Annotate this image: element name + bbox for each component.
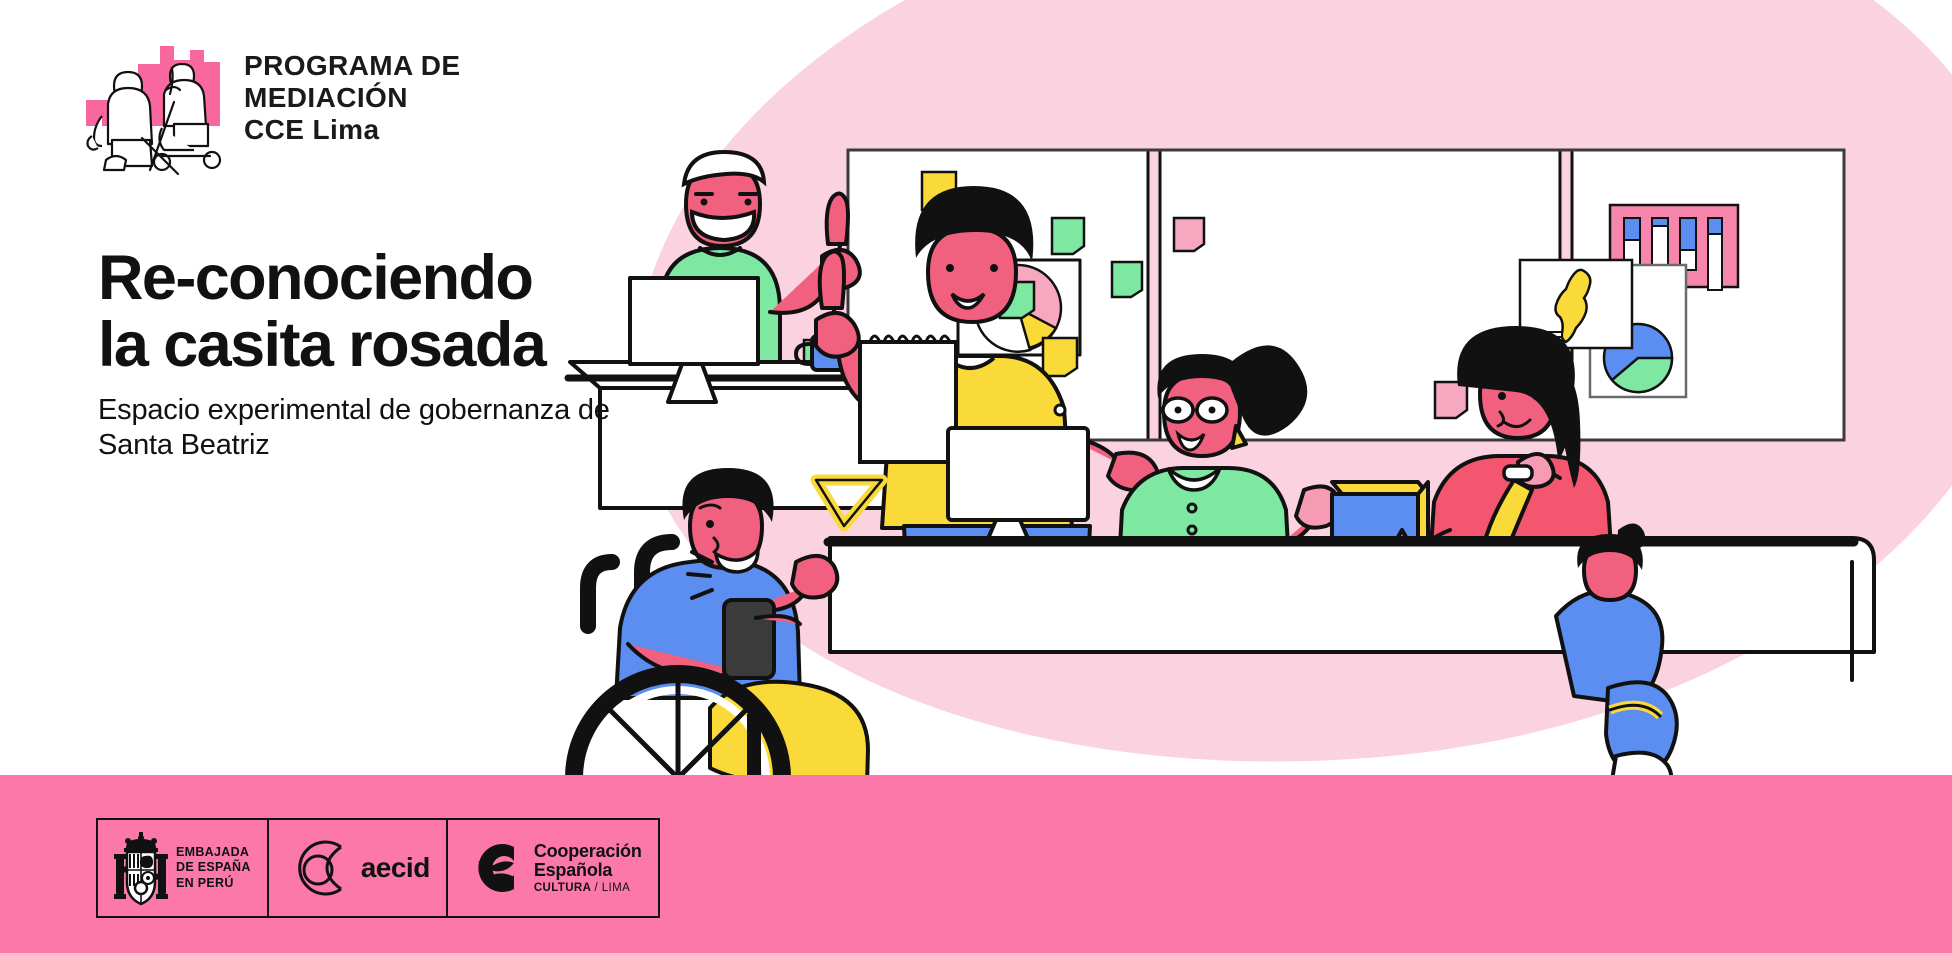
brand-wordmark: PROGRAMA DE MEDIACIÓN CCE Lima [244, 28, 460, 146]
programa-de-mediacion-logo-icon [78, 28, 228, 178]
headline-block: Re-conociendo la casita rosada Espacio e… [98, 245, 658, 464]
brand-line-3: CCE Lima [244, 114, 460, 146]
embajada-line-1: EMBAJADA [176, 845, 251, 860]
footer-logo-strip: EMBAJADA DE ESPAÑA EN PERÚ aecid Coopera… [96, 818, 660, 918]
page-title: Re-conociendo la casita rosada [98, 245, 658, 379]
cooperacion-label: Cooperación Española CULTURA / LIMA [534, 842, 642, 895]
cooperacion-sub-thin: / LIMA [595, 882, 631, 894]
spain-coat-of-arms-icon [114, 830, 168, 906]
cooperacion-espanola-c-mark-icon [464, 835, 524, 901]
logo-aecid: aecid [267, 820, 446, 916]
aecid-label: aecid [361, 852, 430, 884]
embajada-label: EMBAJADA DE ESPAÑA EN PERÚ [176, 845, 251, 891]
aecid-c-mark-icon [285, 833, 351, 903]
cooperacion-sub-bold: CULTURA [534, 882, 591, 894]
brand-line-1: PROGRAMA DE [244, 50, 460, 82]
desk-main [828, 538, 1874, 708]
logo-embajada-de-espana: EMBAJADA DE ESPAÑA EN PERÚ [98, 820, 267, 916]
cooperacion-line-1: Cooperación [534, 842, 642, 861]
page-subtitle: Espacio experimental de gobernanza de Sa… [98, 393, 658, 465]
cooperacion-sub: CULTURA / LIMA [534, 882, 642, 894]
cooperacion-line-2: Española [534, 861, 642, 880]
brand-line-2: MEDIACIÓN [244, 82, 460, 114]
embajada-line-2: DE ESPAÑA [176, 860, 251, 875]
office-collaboration-illustration: .ln{fill:none;stroke:#111;stroke-width:4… [560, 110, 1952, 790]
logo-cooperacion-espanola: Cooperación Española CULTURA / LIMA [446, 820, 658, 916]
brand-lockup: PROGRAMA DE MEDIACIÓN CCE Lima [78, 28, 460, 178]
embajada-line-3: EN PERÚ [176, 876, 251, 891]
title-line-2: la casita rosada [98, 312, 658, 379]
poster-banner: .ln{fill:none;stroke:#111;stroke-width:4… [0, 0, 1952, 953]
title-line-1: Re-conociendo [98, 243, 532, 313]
